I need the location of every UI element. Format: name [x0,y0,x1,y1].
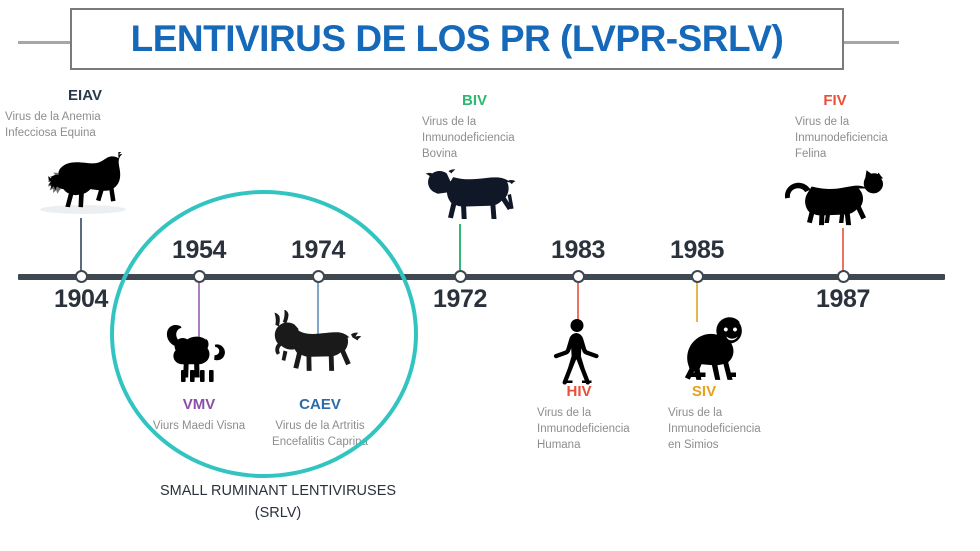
year-1972: 1972 [433,285,487,314]
node-1987[interactable] [837,270,850,283]
virus-code-siv: SIV [668,384,740,401]
sheep-icon [162,318,234,390]
virus-code-hiv: HIV [537,384,621,401]
timeline-infographic: LENTIVIRUS DE LOS PR (LVPR-SRLV) SMALL R… [0,0,980,551]
stem-fiv [842,228,844,274]
node-1904[interactable] [75,270,88,283]
virus-desc-siv-line3: en Simios [668,437,818,453]
stem-biv [459,224,461,274]
virus-desc-siv: Virus de la Inmunodeficiencia en Simios [668,405,818,454]
virus-desc-fiv: Virus de la Inmunodeficiencia Felina [795,114,960,163]
title-rule-right [843,41,899,44]
virus-desc-siv-line2: Inmunodeficiencia [668,421,818,437]
virus-block-hiv: HIV Virus de la Inmunodeficiencia Humana [537,384,687,453]
virus-desc-biv-line3: Bovina [422,146,582,162]
node-1974[interactable] [312,270,325,283]
virus-code-fiv: FIV [795,93,875,110]
node-1954[interactable] [193,270,206,283]
stem-hiv [577,280,579,322]
virus-desc-biv-line2: Inmunodeficiencia [422,130,582,146]
gorilla-icon [669,312,749,384]
virus-desc-hiv: Virus de la Inmunodeficiencia Humana [537,405,687,454]
virus-code-biv: BIV [422,93,527,110]
virus-desc-fiv-line3: Felina [795,146,960,162]
virus-desc-hiv-line1: Virus de la [537,405,687,421]
title-rule-left [18,41,72,44]
year-1983: 1983 [551,236,605,265]
cow-icon [424,166,522,226]
virus-block-eiav: EIAV Virus de la Anemia Infecciosa Equin… [5,88,165,141]
virus-block-siv: SIV Virus de la Inmunodeficiencia en Sim… [668,384,818,453]
virus-desc-hiv-line3: Humana [537,437,687,453]
virus-code-eiav: EIAV [5,88,165,105]
virus-desc-eiav-line2: Infecciosa Equina [5,125,165,141]
virus-desc-eiav: Virus de la Anemia Infecciosa Equina [5,109,165,142]
horse-icon [44,152,128,210]
node-1983[interactable] [572,270,585,283]
goat-icon [263,310,369,386]
virus-desc-biv: Virus de la Inmunodeficiencia Bovina [422,114,582,163]
cat-icon [780,166,886,228]
node-1972[interactable] [454,270,467,283]
human-icon [551,318,603,386]
virus-desc-hiv-line2: Inmunodeficiencia [537,421,687,437]
stem-eiav [80,218,82,274]
virus-desc-fiv-line1: Virus de la [795,114,960,130]
node-1985[interactable] [691,270,704,283]
page-title: LENTIVIRUS DE LOS PR (LVPR-SRLV) [131,18,784,60]
year-1904: 1904 [54,285,108,314]
srlv-caption: SMALL RUMINANT LENTIVIRUSES (SRLV) [160,481,396,525]
title-box: LENTIVIRUS DE LOS PR (LVPR-SRLV) [70,8,844,70]
virus-desc-eiav-line1: Virus de la Anemia [5,109,165,125]
srlv-caption-line2: (SRLV) [160,503,396,525]
srlv-caption-line1: SMALL RUMINANT LENTIVIRUSES [160,481,396,503]
virus-desc-siv-line1: Virus de la [668,405,818,421]
year-1987: 1987 [816,285,870,314]
virus-desc-fiv-line2: Inmunodeficiencia [795,130,960,146]
virus-desc-biv-line1: Virus de la [422,114,582,130]
virus-block-fiv: FIV Virus de la Inmunodeficiencia Felina [795,93,960,162]
year-1985: 1985 [670,236,724,265]
virus-block-biv: BIV Virus de la Inmunodeficiencia Bovina [422,93,582,162]
